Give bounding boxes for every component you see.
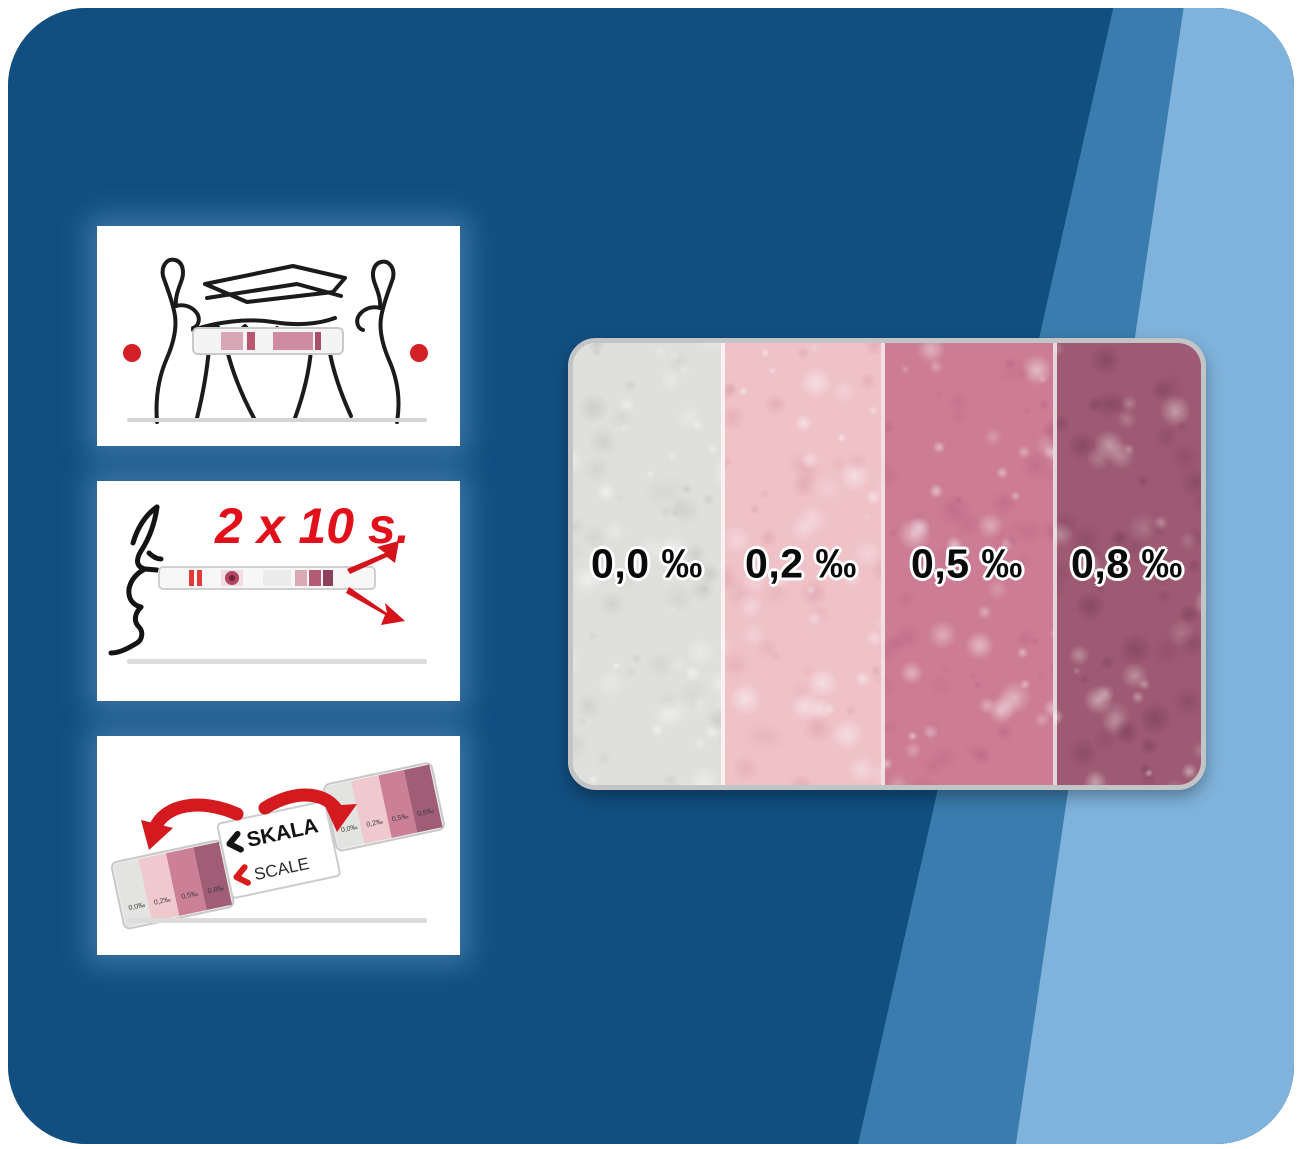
- red-accent-dot-right: [410, 344, 428, 362]
- colour-band-0-5[interactable]: 0,5 ‰: [881, 343, 1053, 785]
- band-label: 0,2 ‰: [721, 541, 881, 588]
- instruction-panel-compare-scale[interactable]: 0,0‰ 0,2‰ 0,5‰ 0,8‰ SKALA SCALE: [97, 736, 460, 955]
- alcohol-colour-scale-card[interactable]: 0,0 ‰0,2 ‰0,5 ‰0,8 ‰: [568, 338, 1206, 790]
- screenshot-root: 2 x 10 s. 0,0‰ 0,2‰: [0, 0, 1302, 1149]
- band-label: 0,8 ‰: [1053, 541, 1201, 588]
- face-profile-icon: [111, 507, 161, 653]
- colour-band-row: 0,0 ‰0,2 ‰0,5 ‰0,8 ‰: [573, 343, 1201, 785]
- colour-band-0-8[interactable]: 0,8 ‰: [1053, 343, 1201, 785]
- open-package-illustration: [97, 226, 460, 446]
- test-strip: [193, 328, 343, 354]
- blow-duration-label: 2 x 10 s.: [214, 498, 410, 554]
- band-label: 0,5 ‰: [881, 541, 1053, 588]
- compare-scale-illustration: 0,0‰ 0,2‰ 0,5‰ 0,8‰ SKALA SCALE: [97, 736, 460, 955]
- red-accent-dot-left: [123, 344, 141, 362]
- colour-band-0-2[interactable]: 0,2 ‰: [721, 343, 881, 785]
- ground-shadow: [127, 918, 427, 923]
- band-label: 0,0 ‰: [573, 541, 721, 588]
- test-strip: [159, 567, 375, 589]
- scale-card-left-half: 0,0‰ 0,2‰ 0,5‰ 0,8‰: [111, 840, 235, 930]
- fold-arrow-left-head: [141, 820, 173, 850]
- arrow-down-right-icon: [346, 587, 405, 625]
- blow-illustration: 2 x 10 s.: [97, 481, 460, 701]
- ground-shadow: [127, 418, 427, 422]
- instruction-panel-open-package[interactable]: [97, 226, 460, 446]
- instruction-panel-blow[interactable]: 2 x 10 s.: [97, 481, 460, 701]
- ground-shadow: [127, 659, 427, 664]
- colour-band-0[interactable]: 0,0 ‰: [573, 343, 721, 785]
